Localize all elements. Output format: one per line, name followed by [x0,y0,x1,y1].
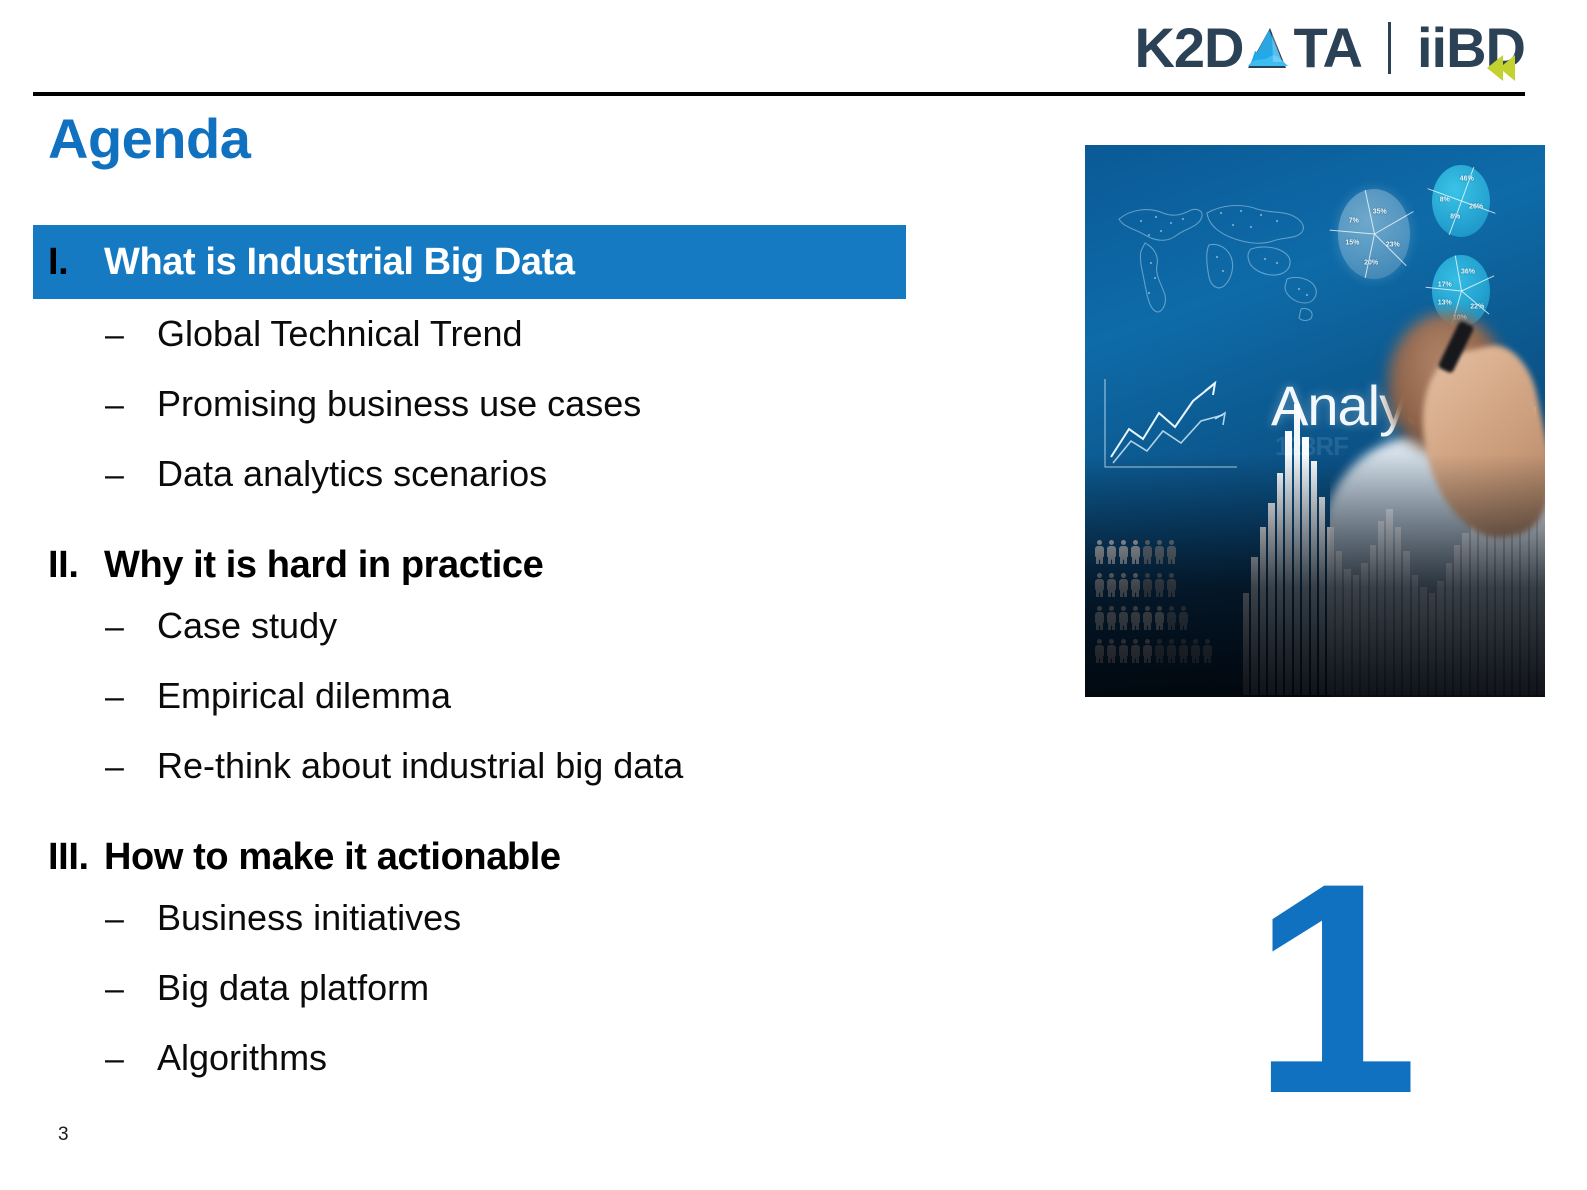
section-header-3[interactable]: III. How to make it actionable [0,829,960,885]
list-item: – Empirical dilemma [0,675,960,745]
section-numeral-1: I. [48,241,104,284]
pie-label: 46% [1460,176,1474,183]
list-item: – Re-think about industrial big data [0,745,960,815]
pie-label: 8% [1450,213,1460,220]
section-title-2: Why it is hard in practice [104,544,543,587]
section-numeral-3: III. [48,836,104,879]
list-item: – Business initiatives [0,897,960,967]
bullet-dash-icon: – [105,678,157,717]
bullet-text: Business initiatives [157,897,461,939]
logo-divider [1388,22,1391,74]
world-map-graphic [1101,183,1336,333]
section-title-1: What is Industrial Big Data [104,241,575,284]
slide-section-numeral: 1 [1252,838,1413,1138]
section-header-1[interactable]: I. What is Industrial Big Data [33,225,906,299]
slide-canvas: K2D TA iiBD [0,0,1587,1190]
bullet-text: Promising business use cases [157,383,641,425]
list-item: – Promising business use cases [0,383,960,453]
bullet-dash-icon: – [105,386,157,425]
pie-label: 36% [1461,269,1475,276]
analysis-stock-photo: 35% 7% 15% 20% 23% 46% 8% 26% 8% 36% 17%… [1085,145,1545,697]
section-bullets-3: – Business initiatives – Big data platfo… [0,885,960,1107]
bullet-dash-icon: – [105,970,157,1009]
page-number: 3 [58,1124,69,1146]
bullet-text: Big data platform [157,967,429,1009]
pie-label: 26% [1469,203,1483,210]
agenda-list: I. What is Industrial Big Data – Global … [0,225,960,1107]
bullet-dash-icon: – [105,1040,157,1079]
k2data-wordmark: K2D TA [1134,20,1362,76]
pie-label: 20% [1364,259,1378,266]
brand-logo: K2D TA iiBD [1134,14,1525,82]
bullet-text: Data analytics scenarios [157,453,547,495]
list-item: – Case study [0,605,960,675]
list-item: – Data analytics scenarios [0,453,960,523]
list-item: – Algorithms [0,1037,960,1107]
bullet-text: Algorithms [157,1037,327,1079]
agenda-section-3: III. How to make it actionable – Busines… [0,829,960,1107]
header-rule [33,92,1525,96]
mountain-icon [1242,25,1296,71]
bullet-dash-icon: – [105,748,157,787]
pie-chart-top-right: 46% 8% 26% 8% [1432,165,1490,237]
list-item: – Big data platform [0,967,960,1037]
page-title: Agenda [48,106,250,171]
bullet-text: Case study [157,605,337,647]
pie-label: 7% [1349,217,1359,224]
bullet-dash-icon: – [105,900,157,939]
bullet-dash-icon: – [105,316,157,355]
k2data-text-pre: K2D [1134,20,1243,76]
bullet-dash-icon: – [105,456,157,495]
pie-label: 17% [1438,282,1452,289]
pie-chart-main: 35% 7% 15% 20% 23% [1338,189,1410,279]
section-title-3: How to make it actionable [104,836,561,879]
list-item: – Global Technical Trend [0,313,960,383]
agenda-section-2: II. Why it is hard in practice – Case st… [0,537,960,815]
chevron-accent-icon [1485,36,1519,66]
agenda-section-1: I. What is Industrial Big Data – Global … [0,225,960,523]
bullet-text: Empirical dilemma [157,675,451,717]
iibd-wordmark: iiBD [1417,20,1525,76]
section-numeral-2: II. [48,544,104,587]
pie-label: 8% [1440,196,1450,203]
pie-label: 35% [1373,209,1387,216]
pie-label: 15% [1345,240,1359,247]
bullet-dash-icon: – [105,608,157,647]
pie-label: 23% [1386,241,1400,248]
section-bullets-1: – Global Technical Trend – Promising bus… [0,299,960,523]
bullet-text: Re-think about industrial big data [157,745,683,787]
photo-vignette [1085,454,1545,697]
section-header-2[interactable]: II. Why it is hard in practice [0,537,960,593]
section-bullets-2: – Case study – Empirical dilemma – Re-th… [0,593,960,815]
bullet-text: Global Technical Trend [157,313,523,355]
k2data-text-post: TA [1294,20,1363,76]
